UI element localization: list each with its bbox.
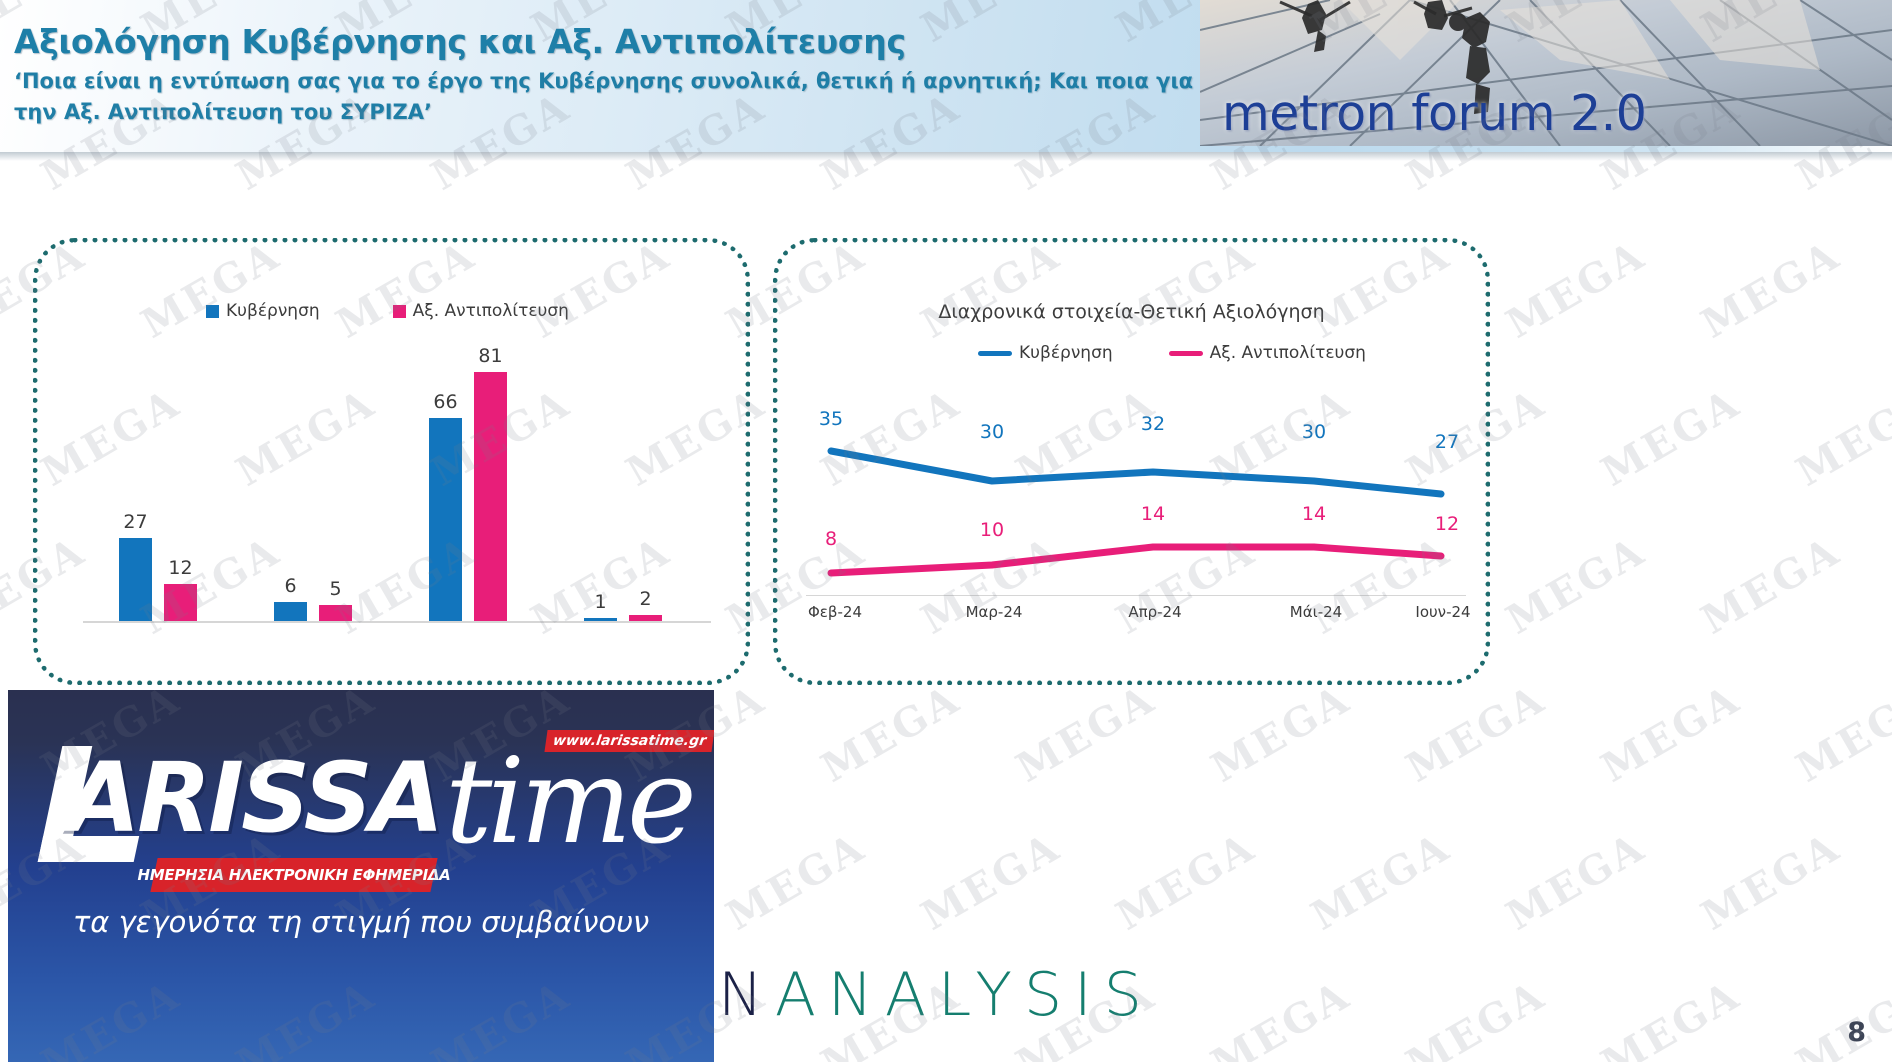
line-x-label-1: Φεβ-24	[770, 603, 900, 621]
legend-label-opposition-line: Αξ. Αντιπολίτευση	[1210, 343, 1366, 363]
line-value-opposition-2: 10	[980, 519, 1004, 541]
bar-group-arnitiki: 66 81	[393, 372, 543, 621]
watermark-text: MEGA	[1593, 379, 1748, 496]
line-value-government-4: 30	[1302, 421, 1326, 443]
line-value-government-5: 27	[1435, 431, 1459, 453]
watermark-text: MEGA	[913, 823, 1068, 940]
watermark-text: MEGA	[1203, 675, 1358, 792]
line-series-graphic	[806, 413, 1466, 613]
header-shadow	[0, 152, 1892, 161]
bar-value-opposition-4: 2	[639, 588, 651, 610]
line-plot-area: 35 30 32 30 27 8 10 14 14 12	[806, 413, 1466, 613]
bar-chart-panel: Κυβέρνηση Αξ. Αντιπολίτευση 27 12	[33, 238, 750, 685]
bar-value-government-3: 66	[433, 391, 457, 413]
line-chart-panel: Διαχρονικά στοιχεία-Θετική Αξιολόγηση Κυ…	[773, 238, 1490, 685]
watermark-text: MEGA	[1498, 823, 1653, 940]
slide-root: Αξιολόγηση Κυβέρνησης και Αξ. Αντιπολίτε…	[0, 0, 1892, 1062]
watermark-text: MEGA	[1398, 675, 1553, 792]
larissa-slogan: τα γεγονότα τη στιγμή που συμβαίνουν	[8, 905, 714, 939]
line-x-label-5: Ιουν-24	[1378, 603, 1508, 621]
watermark-text: MEGA	[1203, 971, 1358, 1062]
page-title: Αξιολόγηση Κυβέρνησης και Αξ. Αντιπολίτε…	[14, 22, 906, 61]
watermark-text: MEGA	[1108, 823, 1263, 940]
watermark-text: MEGA	[1498, 231, 1653, 348]
bar-rect-government-4	[584, 618, 617, 621]
bar-rect-opposition-3	[474, 372, 507, 621]
bar-opposition-1[interactable]: 12	[164, 584, 197, 621]
bar-rect-government-1	[119, 538, 152, 621]
line-value-government-2: 30	[980, 421, 1004, 443]
bar-plot-area: 27 12 6 5	[61, 313, 711, 623]
bar-value-opposition-1: 12	[168, 557, 192, 579]
bar-value-opposition-3: 81	[478, 345, 502, 367]
line-value-opposition-5: 12	[1435, 513, 1459, 535]
nanalysis-rest: ANALYSIS	[775, 960, 1154, 1030]
bar-opposition-3[interactable]: 81	[474, 372, 507, 621]
line-x-label-4: Μάι-24	[1251, 603, 1381, 621]
legend-line-opposition	[1169, 351, 1203, 356]
watermark-text: MEGA	[1593, 675, 1748, 792]
bar-government-1[interactable]: 27	[119, 538, 152, 621]
watermark-text: MEGA	[1693, 231, 1848, 348]
metron-forum-wordmark: metron forum 2.0	[1222, 85, 1646, 142]
larissa-tagline-text: ΗΜΕΡΗΣΙΑ ΗΛΕΚΤΡΟΝΙΚΗ ΕΦΗΜΕΡΙΔΑ	[154, 858, 434, 892]
line-chart-legend: Κυβέρνηση Αξ. Αντιπολίτευση	[978, 343, 1366, 363]
legend-item-opposition-line[interactable]: Αξ. Αντιπολίτευση	[1169, 343, 1366, 363]
legend-line-government	[978, 351, 1012, 356]
line-x-label-2: Μαρ-24	[929, 603, 1059, 621]
watermark-text: MEGA	[1593, 971, 1748, 1062]
line-chart-title: Διαχρονικά στοιχεία-Θετική Αξιολόγηση	[778, 301, 1485, 323]
watermark-text: MEGA	[1888, 823, 1892, 940]
bar-value-opposition-2: 5	[329, 578, 341, 600]
larissa-tagline-bar: ΗΜΕΡΗΣΙΑ ΗΛΕΚΤΡΟΝΙΚΗ ΕΦΗΜΕΡΙΔΑ	[150, 858, 437, 892]
larissa-wordmark: ARISSA	[66, 742, 441, 854]
bar-chart: Κυβέρνηση Αξ. Αντιπολίτευση 27 12	[38, 243, 745, 680]
bar-value-government-1: 27	[123, 511, 147, 533]
line-value-opposition-1: 8	[825, 528, 837, 550]
bar-rect-government-3	[429, 418, 462, 621]
watermark-text: MEGA	[1498, 527, 1653, 644]
line-value-government-1: 35	[819, 408, 843, 430]
watermark-text: MEGA	[1788, 379, 1892, 496]
bar-rect-opposition-4	[629, 615, 662, 621]
watermark-text: MEGA	[1303, 823, 1458, 940]
page-number: 8	[1847, 1017, 1866, 1048]
legend-item-government-line[interactable]: Κυβέρνηση	[978, 343, 1113, 363]
bar-rect-government-2	[274, 602, 307, 621]
bar-group-oute-oute: 6 5	[238, 602, 388, 621]
watermark-text: MEGA	[1788, 675, 1892, 792]
larissa-url-badge[interactable]: www.larissatime.gr	[544, 730, 714, 752]
watermark-text: MEGA	[1693, 527, 1848, 644]
watermark-text: MEGA	[718, 823, 873, 940]
page-subtitle: ‘Ποια είναι η εντύπωση σας για το έργο τ…	[14, 66, 1194, 128]
watermark-text: MEGA	[813, 675, 968, 792]
line-value-government-3: 32	[1141, 413, 1165, 435]
larissatime-logo[interactable]: ARISSA time ΗΜΕΡΗΣΙΑ ΗΛΕΚΤΡΟΝΙΚΗ ΕΦΗΜΕΡΙ…	[8, 690, 714, 1062]
metron-forum-banner: metron forum 2.0	[1200, 0, 1892, 146]
bar-group-thetiki: 27 12	[83, 538, 233, 621]
line-value-opposition-3: 14	[1141, 503, 1165, 525]
watermark-text: MEGA	[1693, 823, 1848, 940]
bar-government-2[interactable]: 6	[274, 602, 307, 621]
bar-rect-opposition-2	[319, 605, 352, 621]
watermark-text: MEGA	[1788, 971, 1892, 1062]
line-x-label-3: Απρ-24	[1090, 603, 1220, 621]
legend-label-government-line: Κυβέρνηση	[1019, 343, 1113, 363]
line-chart: Διαχρονικά στοιχεία-Θετική Αξιολόγηση Κυ…	[778, 243, 1485, 680]
nanalysis-first-letter: N	[718, 960, 775, 1030]
slide-header: Αξιολόγηση Κυβέρνησης και Αξ. Αντιπολίτε…	[0, 0, 1892, 152]
watermark-text: MEGA	[1888, 527, 1892, 644]
bar-opposition-4[interactable]: 2	[629, 615, 662, 621]
watermark-text: MEGA	[1888, 231, 1892, 348]
bar-group-dg-da: 1 2	[548, 615, 698, 621]
larissa-time-wordmark: time	[445, 732, 692, 870]
watermark-text: MEGA	[1008, 675, 1163, 792]
bar-government-4[interactable]: 1	[584, 618, 617, 621]
bar-rect-opposition-1	[164, 584, 197, 621]
bar-chart-baseline	[83, 621, 711, 623]
watermark-text: MEGA	[1398, 971, 1553, 1062]
nanalysis-logo: NANALYSIS	[718, 960, 1154, 1030]
bar-value-government-4: 1	[594, 591, 606, 613]
line-value-opposition-4: 14	[1302, 503, 1326, 525]
line-government[interactable]	[831, 451, 1441, 494]
line-opposition[interactable]	[831, 547, 1441, 573]
bar-opposition-2[interactable]: 5	[319, 605, 352, 621]
line-chart-axis	[806, 595, 1466, 596]
bar-value-government-2: 6	[284, 575, 296, 597]
bar-government-3[interactable]: 66	[429, 418, 462, 621]
